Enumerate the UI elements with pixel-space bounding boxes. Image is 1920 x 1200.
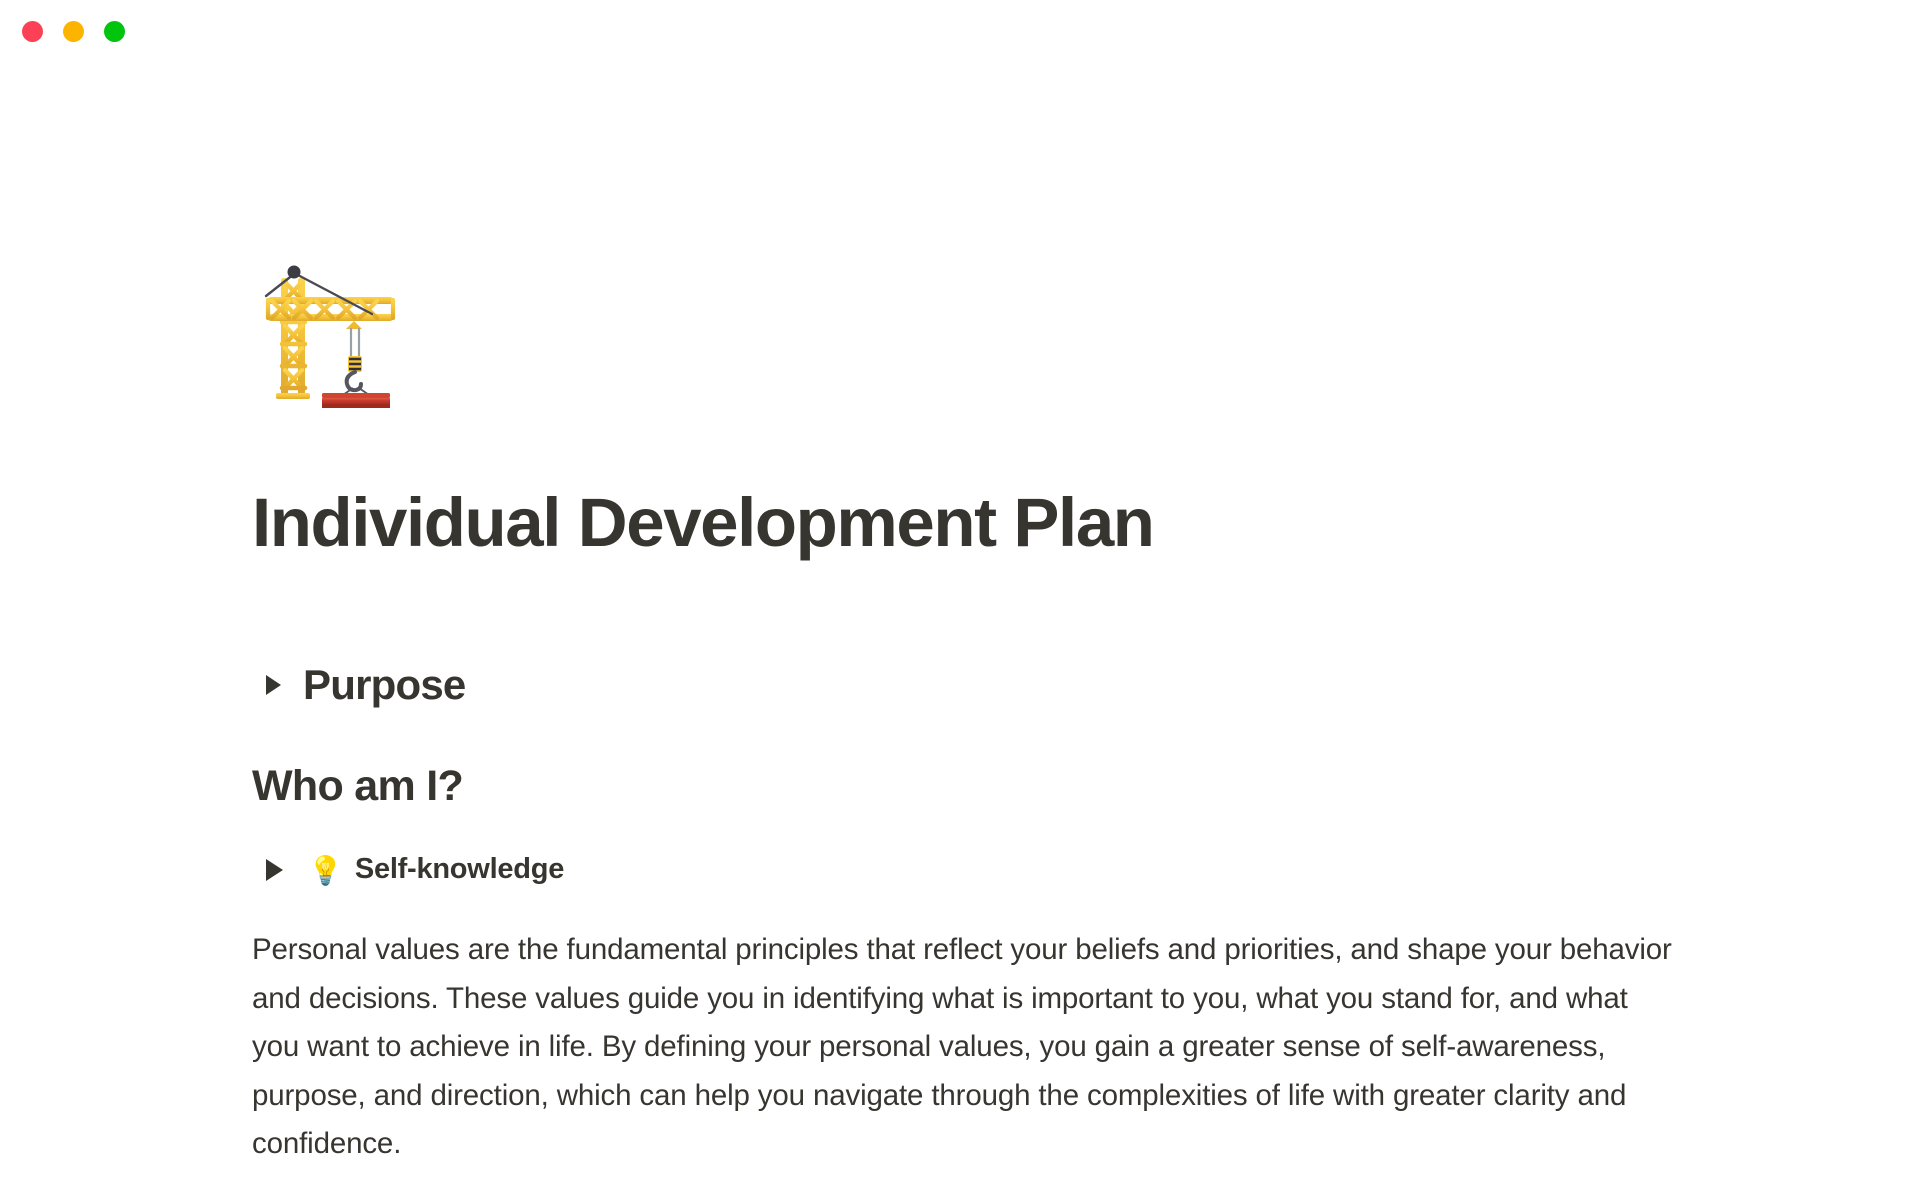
toggle-label-self-knowledge[interactable]: Self-knowledge xyxy=(355,853,564,886)
body-paragraph[interactable]: Personal values are the fundamental prin… xyxy=(252,926,1682,1169)
building-construction-crane-icon[interactable] xyxy=(248,238,428,418)
toggle-collapsed-arrow-icon[interactable] xyxy=(266,675,281,695)
light-bulb-icon: 💡 xyxy=(308,857,343,885)
toggle-block-purpose[interactable]: Purpose xyxy=(266,663,465,707)
heading-who-am-i[interactable]: Who am I? xyxy=(252,763,463,810)
toggle-block-self-knowledge[interactable]: 💡 Self-knowledge xyxy=(266,853,564,886)
toggle-collapsed-arrow-icon[interactable] xyxy=(266,859,283,881)
document-page: Individual Development Plan Purpose Who … xyxy=(0,0,1920,1200)
toggle-label-purpose[interactable]: Purpose xyxy=(303,663,465,707)
page-title[interactable]: Individual Development Plan xyxy=(252,485,1154,561)
